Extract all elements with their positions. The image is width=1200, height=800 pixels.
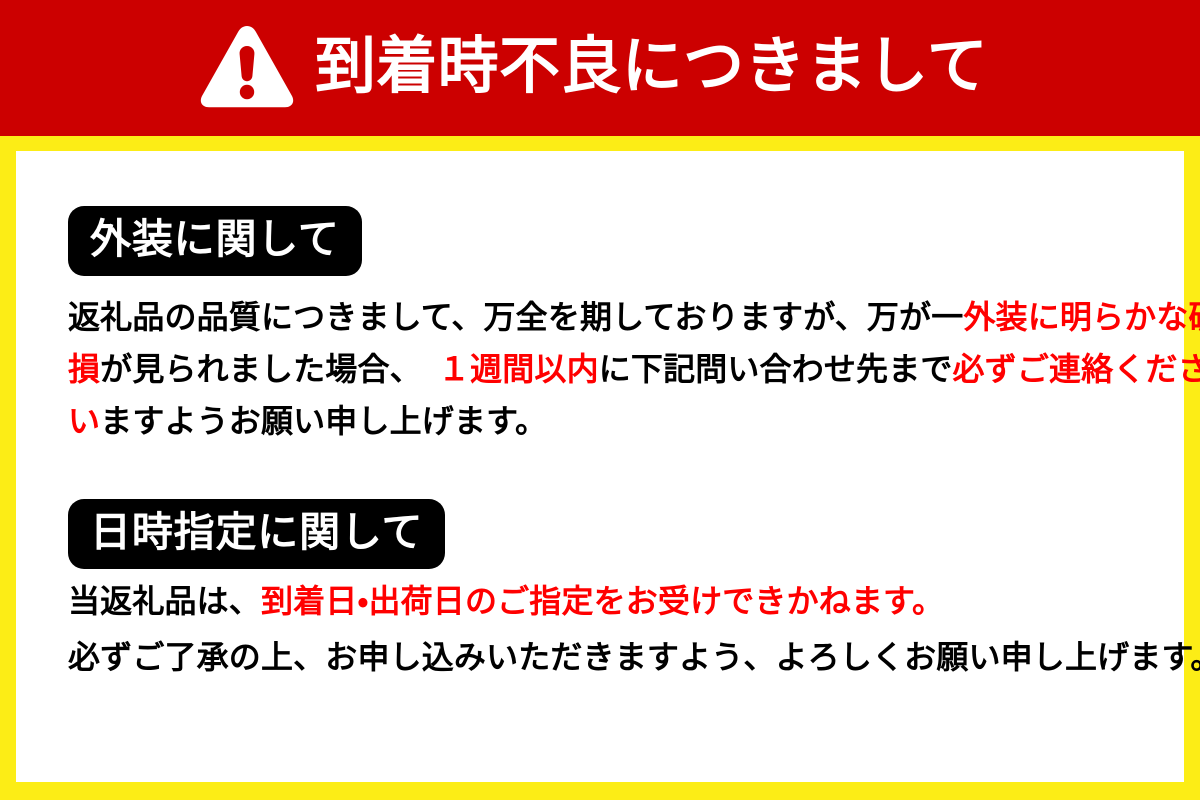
arrival-defect-notice-banner: 到着時不良につきまして 外装に関して 返礼品の品質につきまして、万全を期しており… — [0, 0, 1200, 800]
highlighted-text: 損 — [68, 350, 100, 388]
section-badge-datetime: 日時指定に関して — [68, 499, 445, 569]
body-text: が見られました場合、 — [100, 350, 438, 388]
highlighted-text: 到着日・出荷日のご指定をお受けできかねます。 — [261, 582, 944, 620]
section-badge-exterior: 外装に関して — [68, 206, 362, 276]
notice-header: 到着時不良につきまして — [0, 0, 1200, 136]
section-text-exterior: 返礼品の品質につきまして、万全を期しておりますが、万が一外装に明らかな破損が見ら… — [68, 292, 1184, 447]
paragraph-line: 当返礼品は、到着日・出荷日のご指定をお受けできかねます。 — [68, 585, 1184, 617]
body-text: 当返礼品は、 — [68, 582, 261, 620]
highlighted-text: １週間以内 — [438, 350, 599, 388]
body-text: に下記問い合わせ先まで — [599, 350, 953, 388]
body-text: ますようお願い申し上げます。 — [100, 402, 547, 440]
body-text: 必ずご了承の上、お申し込みいただきますよう、よろしくお願い申し上げます。 — [68, 638, 1200, 676]
warning-triangle-icon — [199, 24, 295, 108]
paragraph-line: 返礼品の品質につきまして、万全を期しておりますが、万が一外装に明らかな破 — [68, 292, 1184, 344]
section-text-datetime: 当返礼品は、到着日・出荷日のご指定をお受けできかねます。必ずご了承の上、お申し込… — [68, 585, 1184, 673]
notice-body: 外装に関して 返礼品の品質につきまして、万全を期しておりますが、万が一外装に明ら… — [16, 151, 1184, 782]
notice-title: 到着時不良につきまして — [315, 35, 988, 97]
yellow-frame: 外装に関して 返礼品の品質につきまして、万全を期しておりますが、万が一外装に明ら… — [0, 136, 1200, 800]
highlighted-text: 外装に明らかな破 — [963, 298, 1200, 336]
body-text: 返礼品の品質につきまして、万全を期しておりますが、万が一 — [68, 298, 963, 336]
highlighted-text: い — [68, 402, 100, 440]
highlighted-text: 必ずご連絡くださ — [953, 350, 1200, 388]
section-exterior: 外装に関して 返礼品の品質につきまして、万全を期しておりますが、万が一外装に明ら… — [68, 206, 1184, 447]
paragraph-line: 必ずご了承の上、お申し込みいただきますよう、よろしくお願い申し上げます。 — [68, 641, 1184, 673]
section-datetime: 日時指定に関して 当返礼品は、到着日・出荷日のご指定をお受けできかねます。必ずご… — [68, 499, 1184, 673]
paragraph-line: 損が見られました場合、 １週間以内に下記問い合わせ先まで必ずご連絡くださ — [68, 344, 1184, 396]
paragraph-line: いますようお願い申し上げます。 — [68, 396, 1184, 448]
